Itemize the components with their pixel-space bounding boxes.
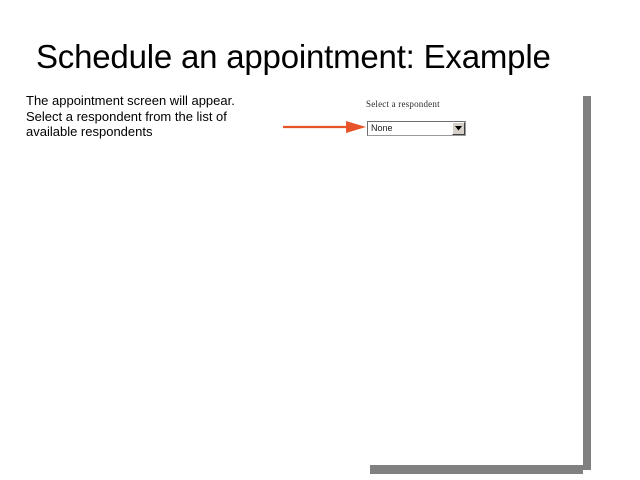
respondent-picker-group: Select a respondent None (366, 99, 476, 141)
slide-canvas: Schedule an appointment: Example The app… (0, 0, 640, 480)
page-title: Schedule an appointment: Example (36, 38, 616, 76)
callout-arrow-icon (283, 118, 367, 136)
respondent-select[interactable]: None (367, 121, 466, 136)
chevron-down-glyph (455, 126, 462, 131)
screenshot-shadow-bottom (370, 465, 583, 474)
respondent-field-label: Select a respondent (366, 99, 440, 109)
respondent-select-value: None (368, 122, 393, 135)
chevron-down-icon[interactable] (452, 122, 465, 135)
screenshot-shadow-right (583, 96, 591, 470)
body-paragraph: The appointment screen will appear. Sele… (26, 93, 258, 140)
